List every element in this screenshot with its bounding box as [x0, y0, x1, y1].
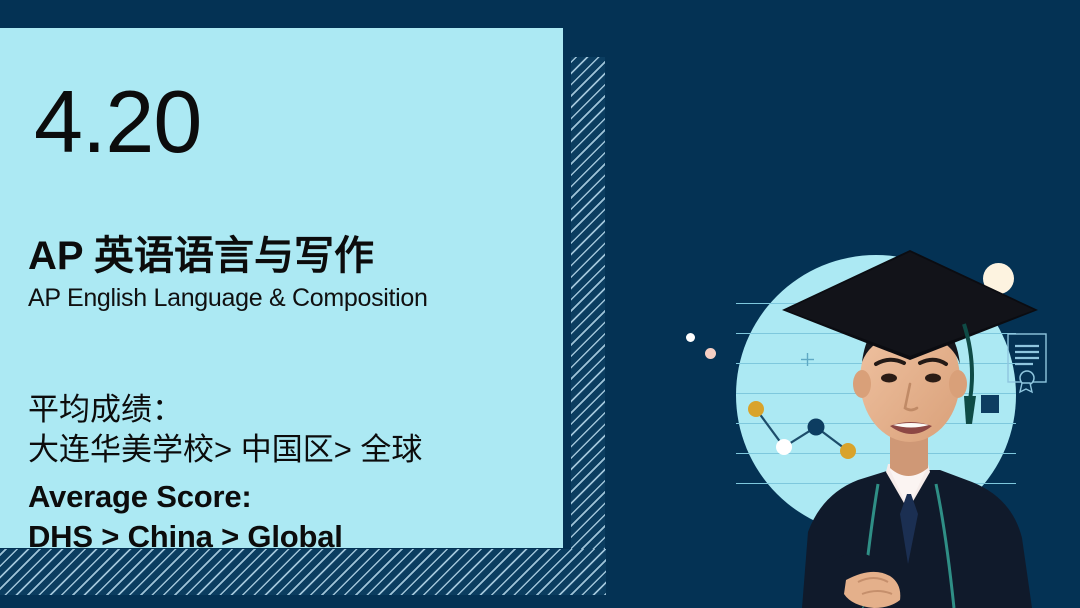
- average-ranking-cn: 大连华美学校> 中国区> 全球: [28, 430, 422, 470]
- average-label-en: Average Score:: [28, 477, 422, 517]
- illustration-panel: [620, 0, 1080, 608]
- average-label-cn: 平均成绩：: [28, 390, 422, 430]
- score-value: 4.20: [34, 78, 201, 166]
- graduate-photo: [750, 232, 1080, 608]
- subject-title-en: AP English Language & Composition: [28, 283, 428, 313]
- subject-title-block: AP 英语语言与写作 AP English Language & Composi…: [28, 233, 428, 313]
- decorative-dot-peach: [705, 348, 716, 359]
- diagonal-stripe-band-vertical: [571, 57, 605, 595]
- average-ranking-en: DHS > China > Global: [28, 517, 422, 557]
- subject-title-cn: AP 英语语言与写作: [28, 233, 428, 280]
- average-score-block: 平均成绩： 大连华美学校> 中国区> 全球 Average Score: DHS…: [28, 390, 422, 557]
- decorative-dot-white: [686, 333, 695, 342]
- content-panel: 4.20 AP 英语语言与写作 AP English Language & Co…: [0, 28, 563, 548]
